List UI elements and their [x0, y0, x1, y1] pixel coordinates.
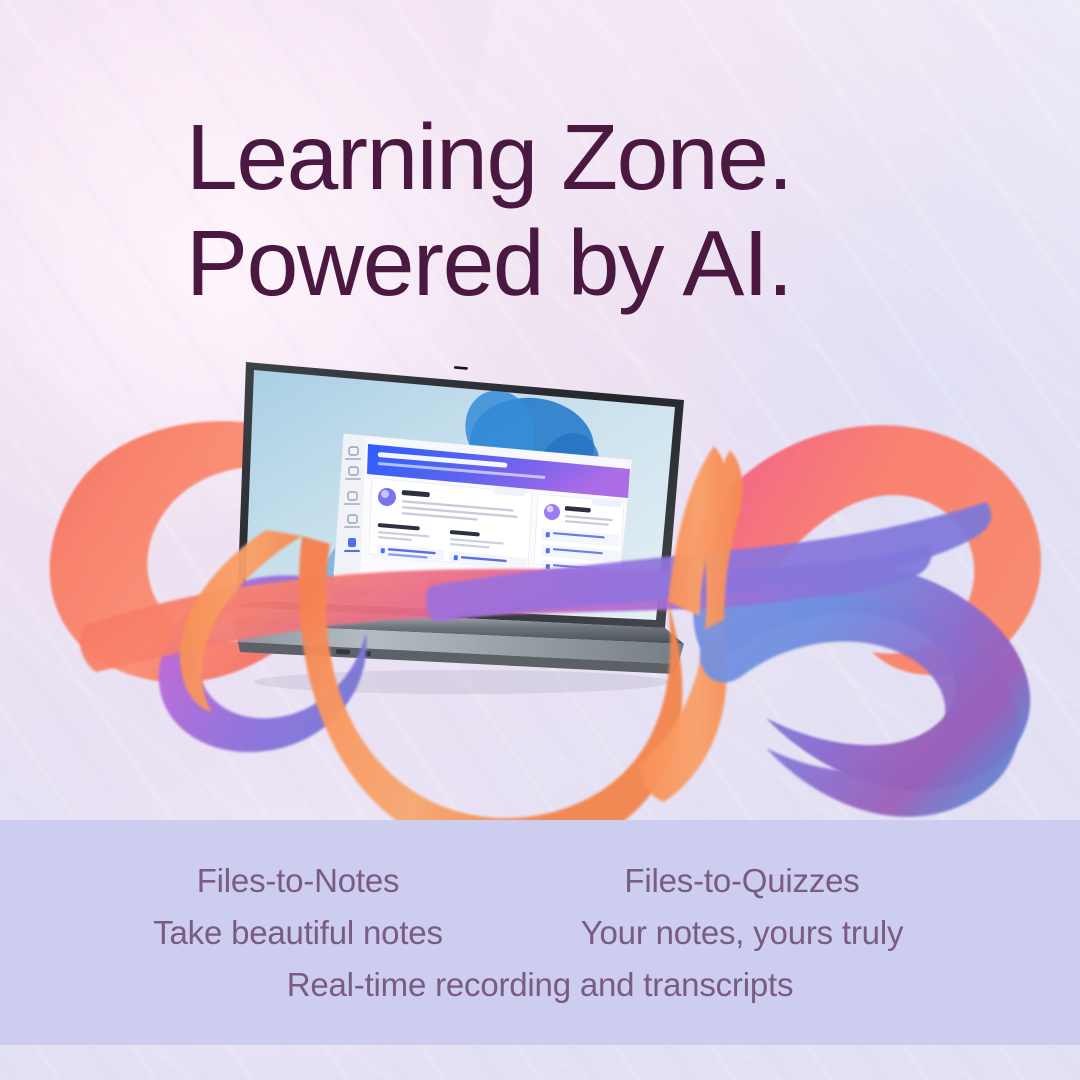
page-title: Learning Zone. Powered by AI.: [186, 104, 1006, 316]
feature-row: Take beautiful notes Your notes, yours t…: [0, 914, 1080, 952]
laptop-device: [232, 352, 702, 702]
laptop-chassis: [232, 352, 702, 702]
feature-take-beautiful-notes: Take beautiful notes: [128, 914, 468, 952]
feature-your-notes-yours-truly: Your notes, yours truly: [532, 914, 952, 952]
feature-real-time-recording: Real-time recording and transcripts: [287, 966, 794, 1004]
feature-row: Files-to-Notes Files-to-Quizzes: [0, 862, 1080, 900]
feature-files-to-quizzes: Files-to-Quizzes: [532, 862, 952, 900]
feature-files-to-notes: Files-to-Notes: [128, 862, 468, 900]
feature-band: Files-to-Notes Files-to-Quizzes Take bea…: [0, 820, 1080, 1045]
feature-list: Files-to-Notes Files-to-Quizzes Take bea…: [0, 820, 1080, 1045]
poster-stage: Learning Zone. Powered by AI.: [0, 0, 1080, 1080]
